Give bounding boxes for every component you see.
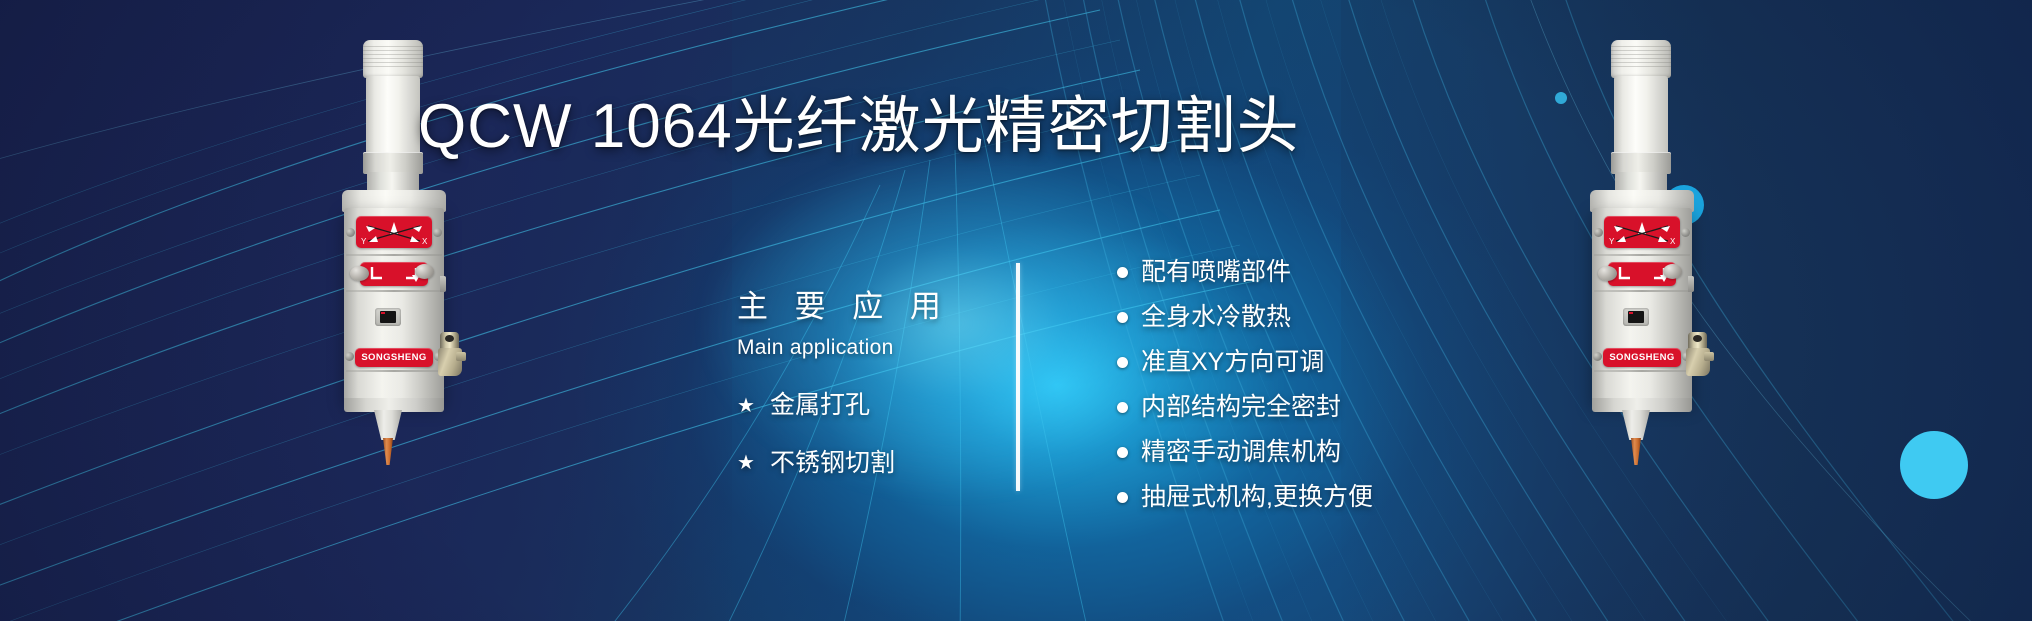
list-item: 抽屉式机构,更换方便 xyxy=(1117,481,1517,514)
brand-label: SONGSHENG xyxy=(1603,348,1681,367)
adjust-cap xyxy=(1663,264,1682,279)
list-item: ★ 不锈钢切割 xyxy=(737,450,1007,478)
sensor-window xyxy=(375,308,401,326)
list-item: 准直XY方向可调 xyxy=(1117,346,1517,379)
star-icon: ★ xyxy=(737,453,755,473)
feature-item-label: 准直XY方向可调 xyxy=(1141,346,1324,379)
bullet-dot-icon xyxy=(1117,267,1128,278)
fitting-stub xyxy=(456,352,466,361)
brand-label: SONGSHENG xyxy=(355,348,433,367)
focus-knob xyxy=(363,40,423,78)
water-fitting xyxy=(1686,332,1714,378)
body-seam xyxy=(1594,290,1690,292)
screw xyxy=(345,352,354,361)
body-seam xyxy=(1594,370,1690,372)
screw xyxy=(433,228,442,237)
upper-tube xyxy=(366,76,420,156)
application-section: 主 要 应 用 Main application ★ 金属打孔 ★ 不锈钢切割 xyxy=(737,290,1007,507)
axis-label-x: X xyxy=(422,237,428,246)
upper-tube xyxy=(1614,76,1668,156)
adjust-cap xyxy=(350,266,369,281)
fitting-stub xyxy=(1704,352,1714,361)
side-tab xyxy=(440,276,446,292)
body-foot xyxy=(344,398,444,412)
features-section: 配有喷嘴部件 全身水冷散热 准直XY方向可调 内部结构完全密封 精密手动调焦机构… xyxy=(1117,256,1517,526)
feature-item-label: 全身水冷散热 xyxy=(1141,301,1291,334)
star-icon: ★ xyxy=(737,396,755,416)
tube-collar xyxy=(363,152,423,174)
decorative-circle-bottom-right xyxy=(1900,431,1968,499)
bullet-dot-icon xyxy=(1117,402,1128,413)
axis-label-y: Y xyxy=(1609,237,1615,246)
xy-alignment-label: Y X xyxy=(356,216,432,248)
application-title: 主 要 应 用 xyxy=(737,290,1007,324)
body-seam xyxy=(346,290,442,292)
brand-label-text: SONGSHENG xyxy=(1609,352,1674,363)
screw xyxy=(1594,228,1603,237)
screw xyxy=(346,228,355,237)
sensor-window xyxy=(1623,308,1649,326)
side-tab xyxy=(1688,276,1694,292)
water-fitting xyxy=(438,332,466,378)
list-item: 精密手动调焦机构 xyxy=(1117,436,1517,469)
bullet-dot-icon xyxy=(1117,312,1128,323)
bullet-dot-icon xyxy=(1117,357,1128,368)
list-item: 内部结构完全密封 xyxy=(1117,391,1517,424)
axis-label-x: X xyxy=(1670,237,1676,246)
axis-label-y: Y xyxy=(361,237,367,246)
column-divider xyxy=(1016,263,1020,491)
feature-item-label: 抽屉式机构,更换方便 xyxy=(1141,481,1373,514)
knob-ribbing xyxy=(363,46,423,70)
bullet-dot-icon xyxy=(1117,447,1128,458)
xy-alignment-label: Y X xyxy=(1604,216,1680,248)
feature-item-label: 内部结构完全密封 xyxy=(1141,391,1341,424)
application-item-label: 金属打孔 xyxy=(770,392,870,420)
screw xyxy=(1681,228,1690,237)
tube-collar xyxy=(1611,152,1671,174)
list-item: ★ 金属打孔 xyxy=(737,392,1007,420)
screw xyxy=(1593,352,1602,361)
brand-label-text: SONGSHENG xyxy=(361,352,426,363)
focus-knob xyxy=(1611,40,1671,78)
application-item-label: 不锈钢切割 xyxy=(770,450,895,478)
knob-ribbing xyxy=(1611,46,1671,70)
body-foot xyxy=(1592,398,1692,412)
feature-item-label: 配有喷嘴部件 xyxy=(1141,256,1291,289)
page-title: QCW 1064光纤激光精密切割头 xyxy=(418,96,1548,158)
decorative-circle-small xyxy=(1555,92,1567,104)
list-item: 全身水冷散热 xyxy=(1117,301,1517,334)
feature-item-label: 精密手动调焦机构 xyxy=(1141,436,1341,469)
adjust-cap xyxy=(415,264,434,279)
body-seam xyxy=(346,370,442,372)
application-subtitle: Main application xyxy=(737,336,1007,360)
list-item: 配有喷嘴部件 xyxy=(1117,256,1517,289)
product-banner: Y X SONGSHENG xyxy=(0,0,2032,621)
adjust-cap xyxy=(1598,266,1617,281)
bullet-dot-icon xyxy=(1117,492,1128,503)
body-seam xyxy=(1594,254,1690,256)
body-seam xyxy=(346,254,442,256)
